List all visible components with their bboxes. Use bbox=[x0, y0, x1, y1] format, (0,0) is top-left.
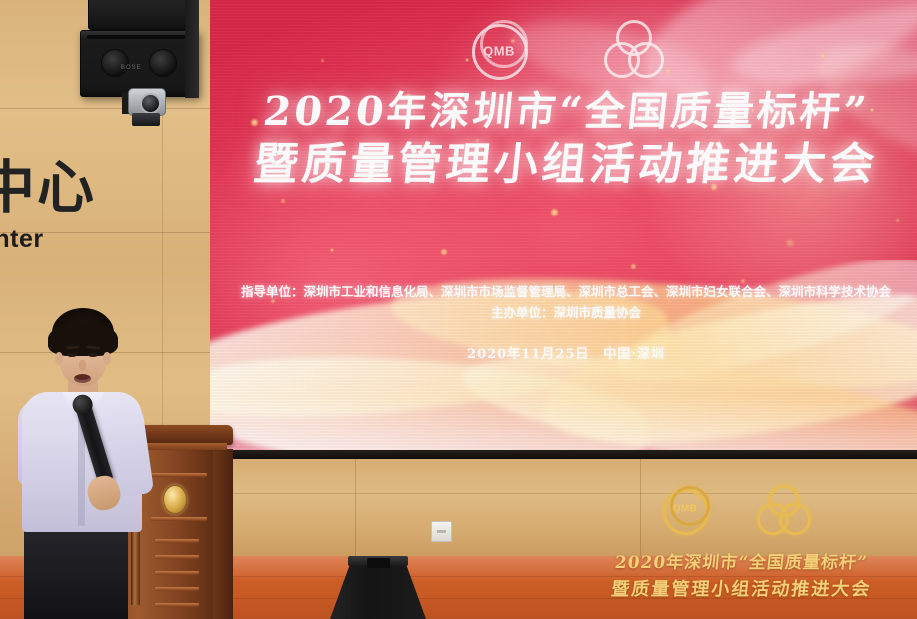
presenter-trousers bbox=[24, 522, 128, 619]
qmb-logo-gold: QMB bbox=[660, 487, 710, 531]
led-screen-frame bbox=[210, 450, 917, 459]
qmb-logo-gold-text: QMB bbox=[673, 504, 697, 515]
screen-title-line1: 2020年深圳市“全国质量标杆” bbox=[210, 90, 917, 135]
presenter-ear bbox=[103, 352, 111, 365]
presenter-hair-front bbox=[48, 322, 118, 356]
camera-body bbox=[128, 88, 166, 116]
qmb-logo-text: QMB bbox=[483, 44, 515, 59]
venue-sign-chinese: 中心 bbox=[0, 160, 96, 217]
screen-title-line2: 暨质量管理小组活动推进大会 bbox=[210, 139, 917, 191]
guidance-units-text: 指导单位：深圳市工业和信息化局、深圳市市场监督管理局、深圳市总工会、深圳市妇女联… bbox=[210, 282, 917, 303]
sparkle-dot bbox=[330, 248, 334, 252]
sparkle-dot bbox=[440, 248, 448, 256]
panel-seam bbox=[355, 459, 356, 559]
sparkle-dot bbox=[895, 218, 900, 223]
screen-logo-row: QMB bbox=[210, 20, 917, 82]
presenter-eye bbox=[67, 353, 77, 357]
panel-seam bbox=[640, 459, 641, 559]
monitor-speaker-handle bbox=[367, 558, 390, 568]
three-rings-logo-gold bbox=[756, 487, 806, 531]
presenter-nose bbox=[79, 360, 86, 371]
wall-speaker: BOSE bbox=[80, 30, 199, 97]
wall-speaker-upper bbox=[88, 0, 195, 30]
presenter-ear bbox=[55, 352, 63, 365]
speaker-cone-icon bbox=[149, 49, 177, 77]
stage-monitor-speaker bbox=[330, 553, 426, 619]
ptz-camera bbox=[126, 88, 166, 128]
camera-lens-icon bbox=[140, 93, 161, 114]
venue-sign-english: enter bbox=[0, 225, 44, 254]
podium-right-column bbox=[213, 449, 233, 619]
venue-wall-sign: 中心 enter bbox=[0, 150, 112, 270]
qmb-logo: QMB bbox=[468, 20, 530, 82]
conference-photo: 中心 enter BOSE bbox=[0, 0, 917, 619]
presenter-eye bbox=[88, 353, 98, 357]
presenter-mouth bbox=[74, 374, 91, 383]
speaker-side-panel bbox=[185, 0, 199, 98]
screen-title: 2020年深圳市“全国质量标杆” 暨质量管理小组活动推进大会 bbox=[210, 90, 917, 191]
host-unit-text: 主办单位：深圳市质量协会 bbox=[210, 303, 917, 324]
screen-date-location: 2020年11月25日 中国·深圳 bbox=[210, 343, 917, 362]
presenter bbox=[8, 308, 178, 619]
speaker-vent bbox=[87, 35, 192, 39]
speaker-cone-icon bbox=[101, 49, 129, 77]
screen-organizers: 指导单位：深圳市工业和信息化局、深圳市市场监督管理局、深圳市总工会、深圳市妇女联… bbox=[210, 282, 917, 323]
sparkle-dot bbox=[280, 198, 286, 204]
stage-front-logo-row: QMB bbox=[660, 487, 806, 531]
stage-front-title-line2: 暨质量管理小组活动推进大会 bbox=[565, 575, 917, 601]
panel-seam bbox=[180, 493, 917, 494]
camera-base bbox=[132, 113, 160, 126]
three-rings-logo bbox=[602, 20, 664, 82]
monitor-speaker-body bbox=[330, 561, 426, 619]
sparkle-dot bbox=[550, 208, 559, 217]
stage-front-title-line1: 2020年深圳市“全国质量标杆” bbox=[565, 548, 917, 573]
sparkle-dot bbox=[785, 238, 795, 248]
stage-front-title: 2020年深圳市“全国质量标杆” 暨质量管理小组活动推进大会 bbox=[566, 548, 917, 601]
led-display-screen: QMB 2020年深圳市“全国质量标杆” 暨质量管理小组活动推进大会 指导单位：… bbox=[210, 0, 917, 450]
wall-outlet bbox=[431, 521, 452, 542]
speaker-brand-label: BOSE bbox=[121, 65, 142, 71]
